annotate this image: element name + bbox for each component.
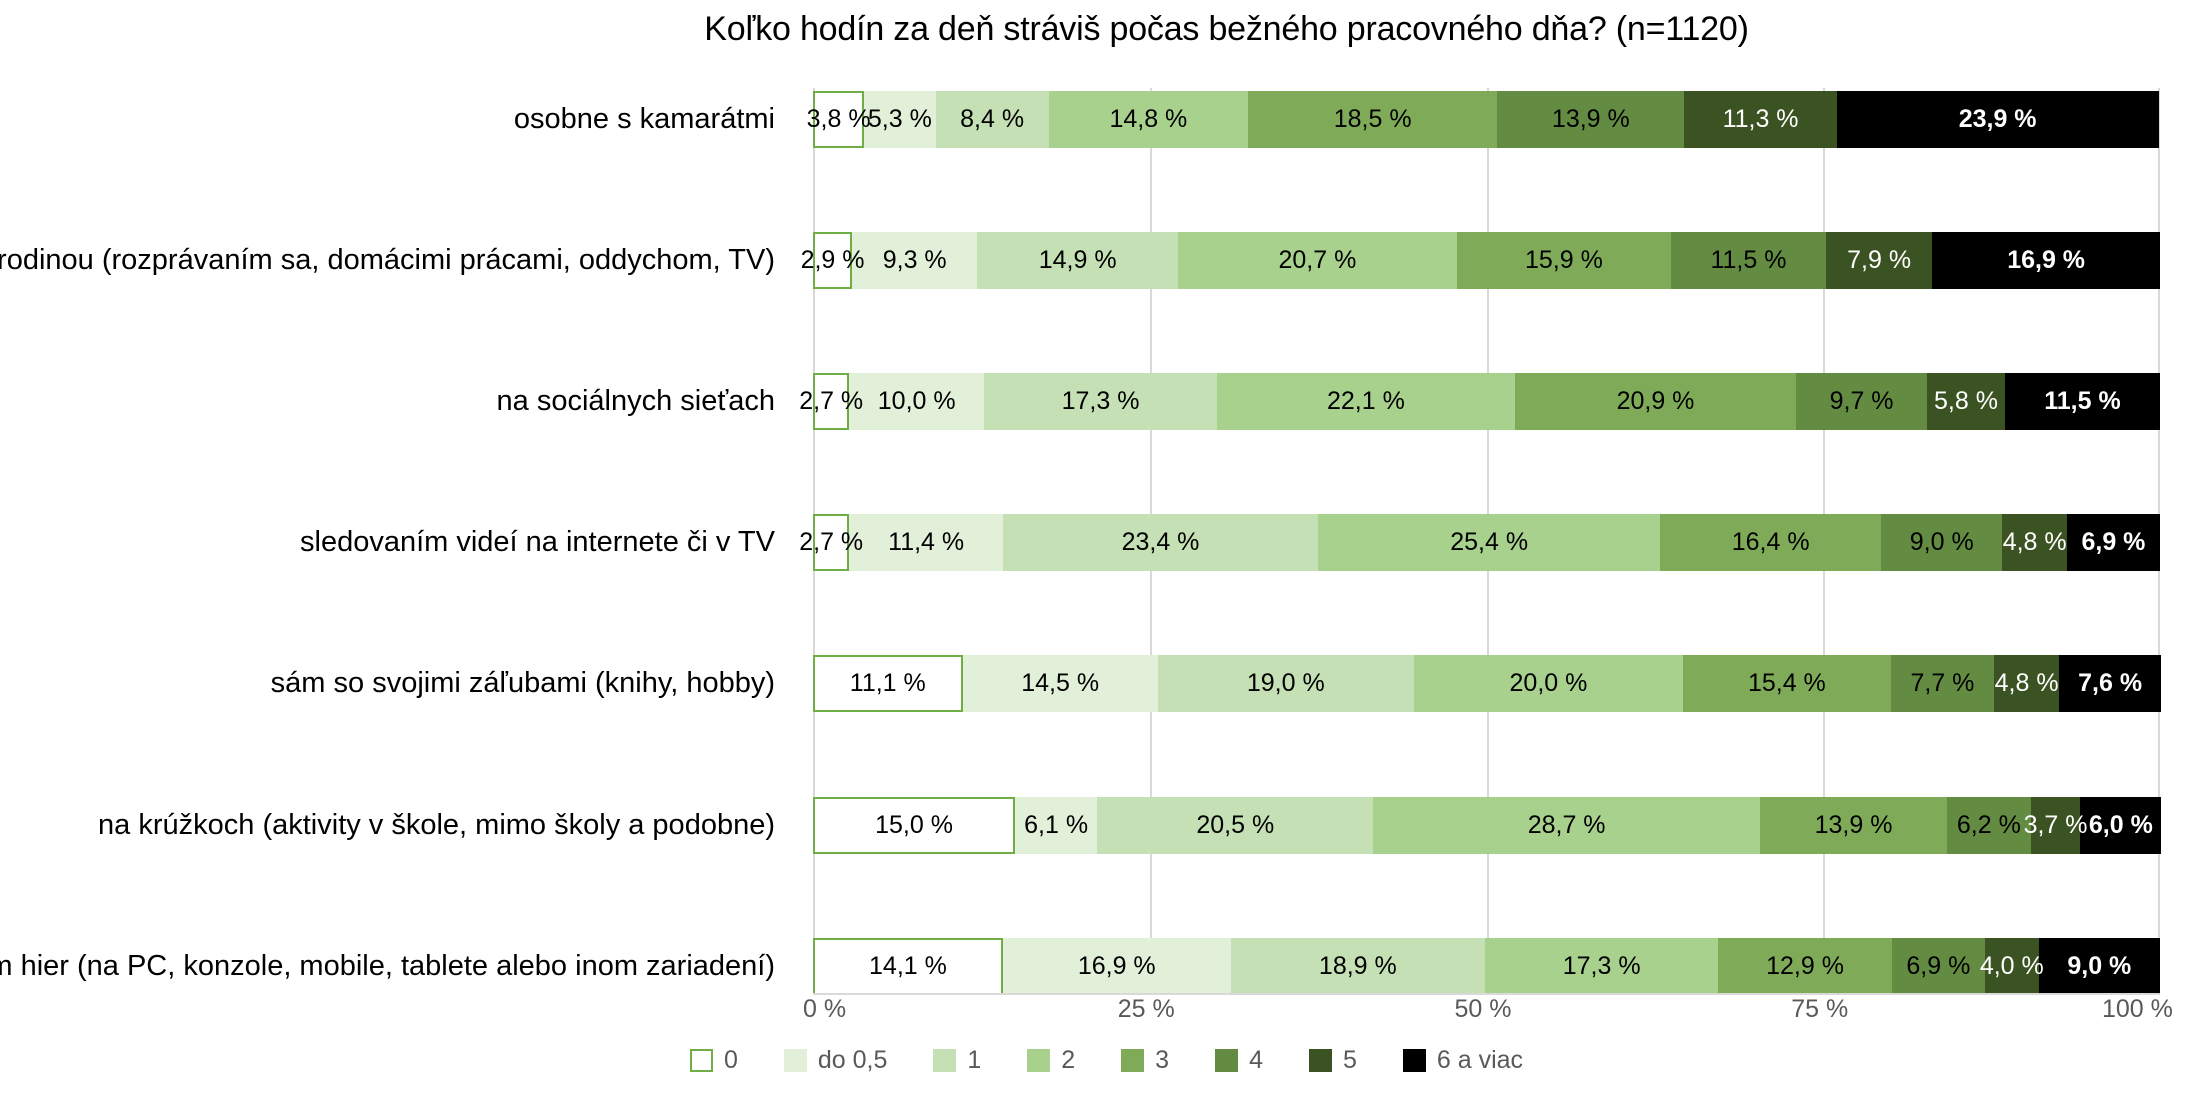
- bar-segment[interactable]: 4,8 %: [1994, 655, 2059, 712]
- legend-item[interactable]: 6 a viac: [1403, 1046, 1523, 1075]
- stacked-bar-chart: Koľko hodín za deň stráviš počas bežného…: [0, 0, 2193, 1103]
- bar-segment[interactable]: 17,3 %: [1485, 938, 1718, 995]
- bar-segment-label: 2,7 %: [799, 389, 863, 414]
- bar-segment[interactable]: 6,2 %: [1947, 797, 2031, 854]
- bar-segment-label: 2,7 %: [799, 530, 863, 555]
- bar-segment[interactable]: 19,0 %: [1158, 655, 1414, 712]
- bar-segment-label: 16,9 %: [1078, 954, 1156, 979]
- bar-segment-label: 23,4 %: [1122, 530, 1200, 555]
- bar-segment[interactable]: 11,1 %: [813, 655, 963, 712]
- bar-row: 2,9 %9,3 %14,9 %20,7 %15,9 %11,5 %7,9 %1…: [813, 232, 2160, 289]
- legend-item[interactable]: 3: [1121, 1046, 1169, 1075]
- bar-segment-label: 5,8 %: [1934, 389, 1998, 414]
- bar-segment[interactable]: 9,7 %: [1796, 373, 1927, 430]
- bar-segment[interactable]: 2,7 %: [813, 373, 849, 430]
- bar-segment-label: 6,2 %: [1957, 813, 2021, 838]
- bar-segment-label: 7,9 %: [1847, 248, 1911, 273]
- bar-segment[interactable]: 15,4 %: [1683, 655, 1890, 712]
- bar-segment[interactable]: 14,8 %: [1049, 91, 1248, 148]
- bar-segment[interactable]: 13,9 %: [1497, 91, 1684, 148]
- bar-segment-label: 18,5 %: [1334, 107, 1412, 132]
- bar-segment[interactable]: 15,9 %: [1457, 232, 1671, 289]
- x-axis-tick-label: 75 %: [1791, 995, 1848, 1024]
- y-axis-label: sám so svojimi záľubami (knihy, hobby): [0, 655, 790, 712]
- bar-segment-label: 9,0 %: [1910, 530, 1974, 555]
- bar-segment-label: 17,3 %: [1563, 954, 1641, 979]
- legend-item[interactable]: 4: [1215, 1046, 1263, 1075]
- y-axis-label: s rodinou (rozprávaním sa, domácimi prác…: [0, 232, 790, 289]
- bar-segment[interactable]: 5,3 %: [864, 91, 935, 148]
- bar-segment-label: 6,0 %: [2089, 813, 2153, 838]
- bar-segment-label: 9,7 %: [1830, 389, 1894, 414]
- bar-segment-label: 14,8 %: [1109, 107, 1187, 132]
- bar-segment[interactable]: 18,5 %: [1248, 91, 1497, 148]
- bar-segment-label: 15,9 %: [1525, 248, 1603, 273]
- bar-segment-label: 11,4 %: [888, 530, 964, 555]
- bar-segment-label: 10,0 %: [878, 389, 956, 414]
- bar-segment[interactable]: 11,5 %: [2005, 373, 2160, 430]
- bar-segment[interactable]: 7,9 %: [1826, 232, 1932, 289]
- bar-segment[interactable]: 9,0 %: [1881, 514, 2002, 571]
- legend-label: 2: [1061, 1046, 1075, 1075]
- legend-item[interactable]: 5: [1309, 1046, 1357, 1075]
- bar-segment[interactable]: 25,4 %: [1318, 514, 1660, 571]
- bar-segment[interactable]: 16,4 %: [1660, 514, 1881, 571]
- legend-label: do 0,5: [818, 1046, 888, 1075]
- bar-segment-label: 7,7 %: [1910, 671, 1974, 696]
- bar-segment[interactable]: 4,8 %: [2002, 514, 2067, 571]
- legend-swatch-icon: [1309, 1049, 1332, 1072]
- x-axis-tick-label: 25 %: [1118, 995, 1175, 1024]
- bar-segment[interactable]: 3,8 %: [813, 91, 864, 148]
- bar-segment[interactable]: 13,9 %: [1760, 797, 1947, 854]
- bar-row: 11,1 %14,5 %19,0 %20,0 %15,4 %7,7 %4,8 %…: [813, 655, 2160, 712]
- bar-segment-label: 2,9 %: [801, 248, 865, 273]
- bar-row: 2,7 %10,0 %17,3 %22,1 %20,9 %9,7 %5,8 %1…: [813, 373, 2160, 430]
- bar-segment-label: 5,3 %: [868, 107, 932, 132]
- x-axis-tick-label: 50 %: [1455, 995, 1512, 1024]
- bar-segment[interactable]: 20,0 %: [1414, 655, 1683, 712]
- bar-segment-label: 8,4 %: [960, 107, 1024, 132]
- bar-segment[interactable]: 4,0 %: [1985, 938, 2039, 995]
- legend-swatch-icon: [933, 1049, 956, 1072]
- bar-segment-label: 20,0 %: [1510, 671, 1588, 696]
- chart-legend: 0do 0,5123456 a viac: [0, 1046, 2193, 1075]
- bar-row: 14,1 %16,9 %18,9 %17,3 %12,9 %6,9 %4,0 %…: [813, 938, 2160, 995]
- bar-segment-label: 9,0 %: [2067, 954, 2131, 979]
- legend-swatch-icon: [1121, 1049, 1144, 1072]
- bar-segment-label: 6,1 %: [1024, 813, 1088, 838]
- y-axis-label: hraním hier (na PC, konzole, mobile, tab…: [0, 938, 790, 995]
- legend-item[interactable]: 1: [933, 1046, 981, 1075]
- bar-segment[interactable]: 6,0 %: [2080, 797, 2161, 854]
- legend-label: 0: [724, 1046, 738, 1075]
- legend-label: 5: [1343, 1046, 1357, 1075]
- bar-segment[interactable]: 12,9 %: [1718, 938, 1892, 995]
- y-axis-label: na sociálnych sieťach: [0, 373, 790, 430]
- bar-segment[interactable]: 9,0 %: [2039, 938, 2160, 995]
- bar-segment-label: 17,3 %: [1062, 389, 1140, 414]
- bar-segment-label: 15,4 %: [1748, 671, 1826, 696]
- bar-segment-label: 25,4 %: [1450, 530, 1528, 555]
- bar-segment[interactable]: 10,0 %: [849, 373, 984, 430]
- bar-segment[interactable]: 3,7 %: [2031, 797, 2081, 854]
- bar-segment-label: 20,9 %: [1617, 389, 1695, 414]
- bar-segment[interactable]: 14,9 %: [977, 232, 1178, 289]
- bar-segment-label: 11,1 %: [850, 671, 926, 696]
- bar-segment-label: 3,7 %: [2024, 813, 2088, 838]
- bar-segment-label: 14,5 %: [1021, 671, 1099, 696]
- bar-segment[interactable]: 8,4 %: [936, 91, 1049, 148]
- legend-swatch-icon: [784, 1049, 807, 1072]
- bar-segment-label: 20,7 %: [1279, 248, 1357, 273]
- bar-segment[interactable]: 11,5 %: [1671, 232, 1826, 289]
- bar-segment[interactable]: 22,1 %: [1217, 373, 1515, 430]
- bar-segment[interactable]: 6,9 %: [1892, 938, 1985, 995]
- y-axis-category-labels: osobne s kamarátmis rodinou (rozprávaním…: [0, 88, 800, 993]
- bar-segment-label: 4,0 %: [1980, 954, 2044, 979]
- bar-segment[interactable]: 6,1 %: [1015, 797, 1097, 854]
- bar-segment-label: 28,7 %: [1528, 813, 1606, 838]
- legend-label: 6 a viac: [1437, 1046, 1523, 1075]
- bar-rows: 3,8 %5,3 %8,4 %14,8 %18,5 %13,9 %11,3 %2…: [813, 88, 2160, 993]
- bar-segment-label: 15,0 %: [875, 813, 953, 838]
- legend-item[interactable]: 2: [1027, 1046, 1075, 1075]
- bar-segment-label: 18,9 %: [1319, 954, 1397, 979]
- bar-segment[interactable]: 7,6 %: [2059, 655, 2161, 712]
- bar-segment[interactable]: 14,1 %: [813, 938, 1003, 995]
- legend-swatch-icon: [1215, 1049, 1238, 1072]
- legend-swatch-icon: [1027, 1049, 1050, 1072]
- bar-segment-label: 6,9 %: [1906, 954, 1970, 979]
- bar-segment-label: 22,1 %: [1327, 389, 1405, 414]
- bar-segment-label: 14,1 %: [869, 954, 947, 979]
- y-axis-label: osobne s kamarátmi: [0, 91, 790, 148]
- bar-segment[interactable]: 2,7 %: [813, 514, 849, 571]
- legend-swatch-icon: [690, 1049, 713, 1072]
- bar-segment-label: 9,3 %: [883, 248, 947, 273]
- chart-title: Koľko hodín za deň stráviš počas bežného…: [0, 10, 2193, 49]
- bar-segment-label: 23,9 %: [1959, 107, 2037, 132]
- bar-segment[interactable]: 23,4 %: [1003, 514, 1318, 571]
- legend-label: 4: [1249, 1046, 1263, 1075]
- bar-segment-label: 11,5 %: [2044, 389, 2120, 414]
- x-axis-tick-label: 0 %: [803, 995, 846, 1024]
- bar-row: 3,8 %5,3 %8,4 %14,8 %18,5 %13,9 %11,3 %2…: [813, 91, 2160, 148]
- bar-segment-label: 4,8 %: [2003, 530, 2067, 555]
- bar-segment-label: 13,9 %: [1552, 107, 1630, 132]
- legend-item[interactable]: 0: [690, 1046, 738, 1075]
- bar-segment[interactable]: 16,9 %: [1932, 232, 2160, 289]
- bar-segment[interactable]: 5,8 %: [1927, 373, 2005, 430]
- bar-segment[interactable]: 15,0 %: [813, 797, 1015, 854]
- bar-row: 15,0 %6,1 %20,5 %28,7 %13,9 %6,2 %3,7 %6…: [813, 797, 2160, 854]
- bar-row: 2,7 %11,4 %23,4 %25,4 %16,4 %9,0 %4,8 %6…: [813, 514, 2160, 571]
- bar-segment[interactable]: 11,4 %: [849, 514, 1003, 571]
- bar-segment[interactable]: 9,3 %: [852, 232, 977, 289]
- bar-segment-label: 19,0 %: [1247, 671, 1325, 696]
- x-axis-ticks: 0 %25 %50 %75 %100 %: [813, 995, 2160, 1035]
- bar-segment[interactable]: 7,7 %: [1891, 655, 1995, 712]
- bar-segment[interactable]: 20,9 %: [1515, 373, 1797, 430]
- bar-segment-label: 20,5 %: [1196, 813, 1274, 838]
- bar-segment-label: 14,9 %: [1039, 248, 1117, 273]
- legend-swatch-icon: [1403, 1049, 1426, 1072]
- bar-segment[interactable]: 11,3 %: [1684, 91, 1836, 148]
- bar-segment-label: 4,8 %: [1995, 671, 2059, 696]
- bar-segment-label: 11,5 %: [1710, 248, 1786, 273]
- legend-label: 3: [1155, 1046, 1169, 1075]
- bar-segment-label: 6,9 %: [2081, 530, 2145, 555]
- bar-segment[interactable]: 2,9 %: [813, 232, 852, 289]
- bar-segment-label: 11,3 %: [1723, 107, 1799, 132]
- bar-segment-label: 7,6 %: [2078, 671, 2142, 696]
- y-axis-label: na krúžkoch (aktivity v škole, mimo škol…: [0, 797, 790, 854]
- bar-segment[interactable]: 23,9 %: [1837, 91, 2159, 148]
- bar-segment[interactable]: 6,9 %: [2067, 514, 2160, 571]
- y-axis-label: sledovaním videí na internete či v TV: [0, 514, 790, 571]
- bar-segment-label: 13,9 %: [1815, 813, 1893, 838]
- bar-segment-label: 12,9 %: [1766, 954, 1844, 979]
- bar-segment[interactable]: 28,7 %: [1373, 797, 1760, 854]
- legend-item[interactable]: do 0,5: [784, 1046, 888, 1075]
- bar-segment[interactable]: 14,5 %: [963, 655, 1158, 712]
- bar-segment-label: 16,4 %: [1732, 530, 1810, 555]
- bar-segment-label: 16,9 %: [2007, 248, 2085, 273]
- bar-segment[interactable]: 20,7 %: [1178, 232, 1457, 289]
- legend-label: 1: [967, 1046, 981, 1075]
- bar-segment[interactable]: 18,9 %: [1231, 938, 1486, 995]
- bar-segment[interactable]: 16,9 %: [1003, 938, 1231, 995]
- x-axis-tick-label: 100 %: [2102, 995, 2173, 1024]
- plot-area: 3,8 %5,3 %8,4 %14,8 %18,5 %13,9 %11,3 %2…: [813, 88, 2160, 993]
- bar-segment[interactable]: 20,5 %: [1097, 797, 1373, 854]
- bar-segment[interactable]: 17,3 %: [984, 373, 1217, 430]
- bar-segment-label: 3,8 %: [807, 107, 871, 132]
